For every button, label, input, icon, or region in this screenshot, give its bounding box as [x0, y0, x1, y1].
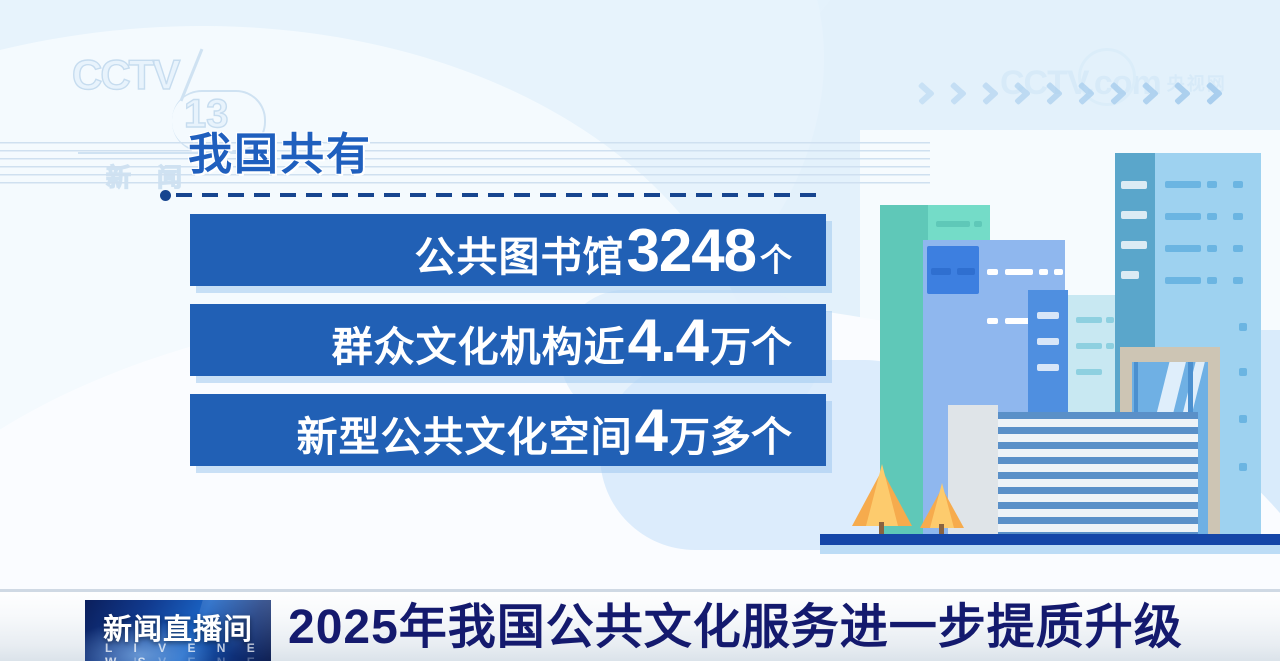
chevron-right-icon — [1208, 70, 1228, 114]
headline-stripe-texture — [0, 142, 930, 188]
chevron-right-icon — [920, 70, 940, 114]
stat-label: 公共图书馆 — [415, 223, 625, 283]
stat-unit: 个 — [760, 235, 792, 281]
ground-shadow — [820, 545, 1280, 554]
chevron-right-icon — [1112, 70, 1132, 114]
logo-channel-number: 13 — [184, 94, 229, 134]
logo-cctv-text: CCTV — [72, 54, 178, 96]
chevron-right-icon — [1144, 70, 1164, 114]
stat-unit: 万多个 — [669, 403, 792, 463]
dashed-rule — [176, 193, 826, 197]
stat-bar: 新型公共文化空间 4 万多个 — [190, 394, 826, 466]
program-badge: 新闻直播间 L I V E N E W S L I V E N E W S — [85, 600, 271, 661]
stat-number: 3248 — [627, 216, 756, 285]
building-striped-podium — [998, 412, 1198, 545]
stat-bar: 公共图书馆 3248 个 — [190, 214, 826, 286]
stat-label: 新型公共文化空间 — [297, 403, 633, 463]
ground-line — [820, 534, 1280, 545]
stat-number: 4.4 — [628, 306, 708, 375]
chevron-right-icon — [1176, 70, 1196, 114]
city-skyline-illustration — [820, 120, 1280, 545]
chevron-right-icon — [952, 70, 972, 114]
chevron-right-icon — [984, 70, 1004, 114]
stat-bar: 群众文化机构近 4.4 万个 — [190, 304, 826, 376]
dashed-rule-dot — [160, 190, 171, 201]
news-headline: 2025年我国公共文化服务进一步提质升级 — [288, 598, 1183, 658]
stat-number: 4 — [635, 396, 667, 465]
tree-large — [852, 452, 912, 534]
banner-top-rule — [0, 589, 1280, 592]
chevron-right-icon — [1080, 70, 1100, 114]
broadcast-frame: CCTV.com 央视网 CCTV 13 新闻 我国共有 公共图书馆 3248 — [0, 0, 1280, 661]
cctv13-channel-logo: CCTV 13 新闻 — [72, 48, 262, 140]
program-name-en-reflection: L I V E N E W S — [105, 655, 271, 661]
chevron-arrow-row — [920, 70, 1250, 116]
stat-unit: 万个 — [710, 313, 792, 373]
infographic-kicker: 我国共有 — [188, 133, 372, 177]
stat-label: 群众文化机构近 — [332, 313, 626, 373]
chevron-right-icon — [1048, 70, 1068, 114]
tree-small — [920, 474, 964, 534]
chevron-right-icon — [1016, 70, 1036, 114]
